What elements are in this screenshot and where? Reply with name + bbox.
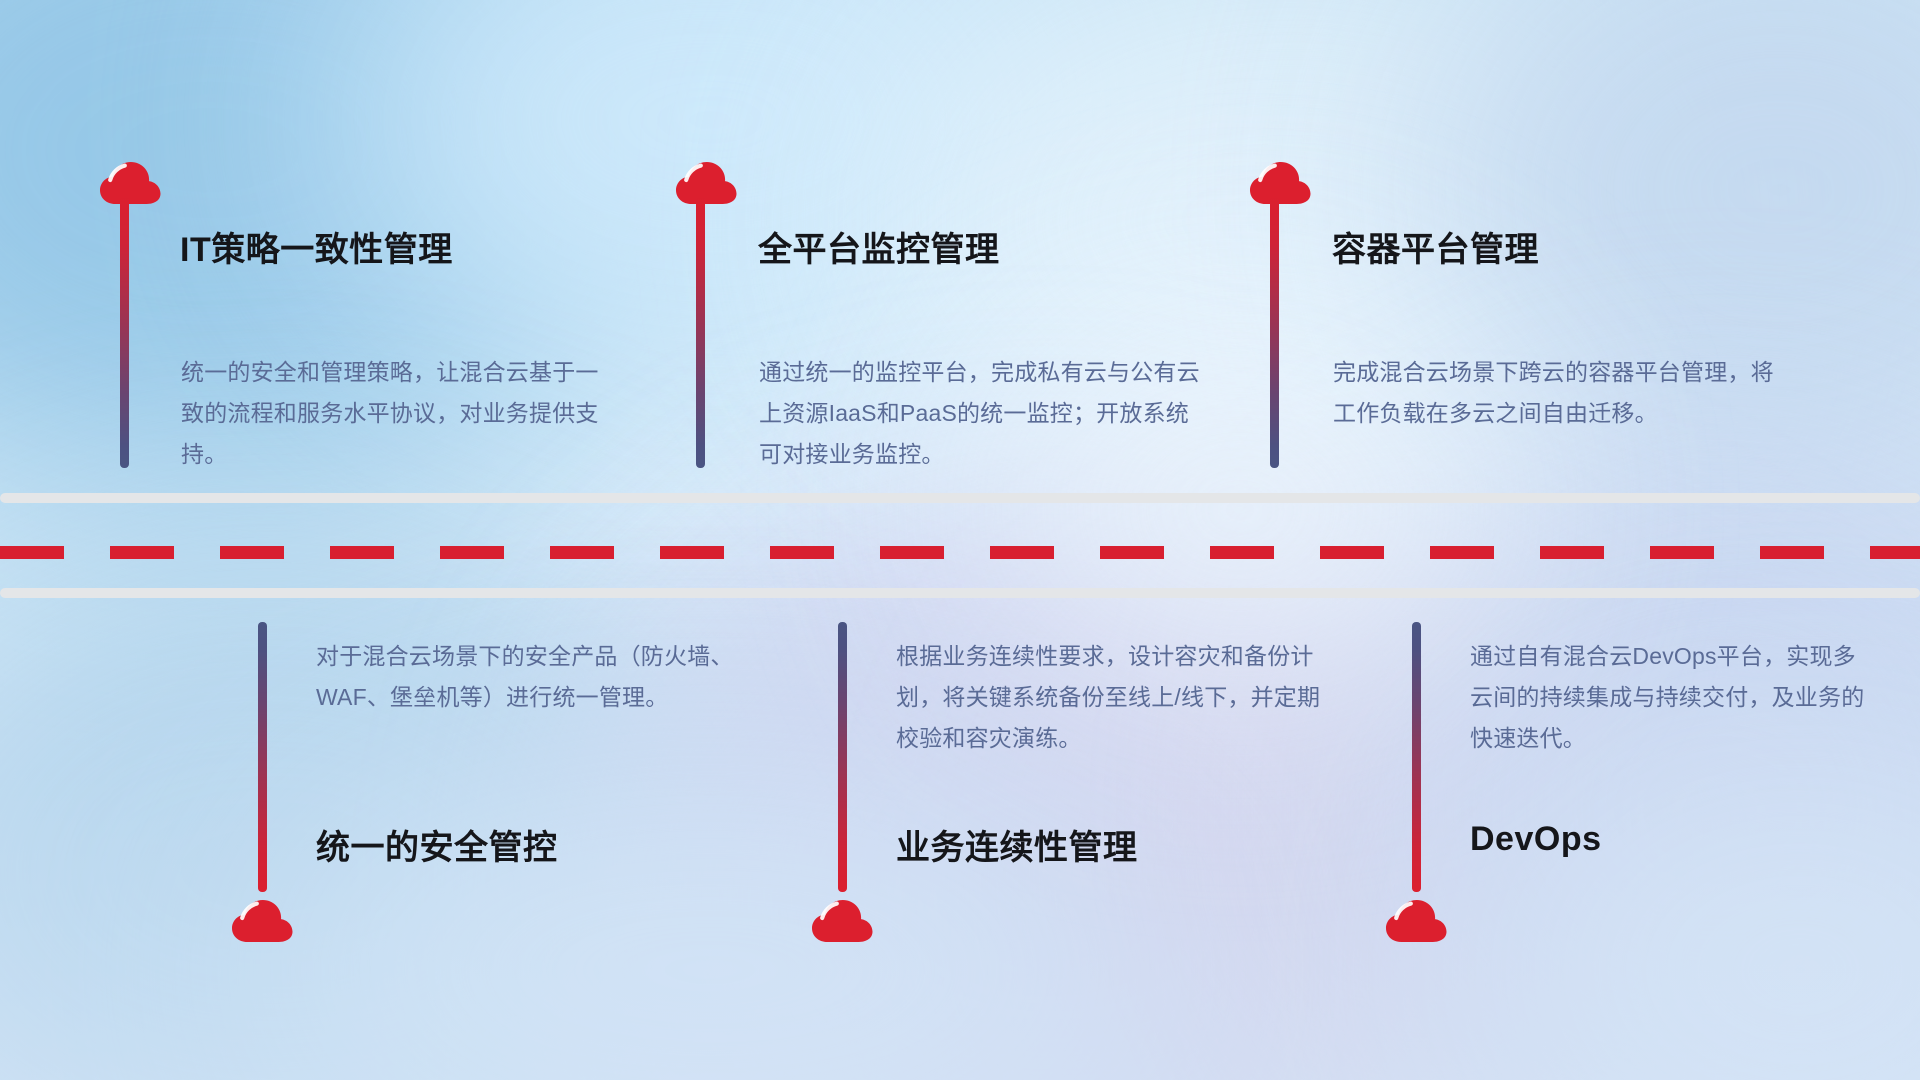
- card-title: DevOps: [1470, 820, 1602, 859]
- cloud-icon: [1384, 896, 1450, 944]
- stem-bar: [120, 196, 129, 468]
- card-body: 通过统一的监控平台，完成私有云与公有云上资源IaaS和PaaS的统一监控；开放系…: [759, 352, 1211, 475]
- card-body: 通过自有混合云DevOps平台，实现多云间的持续集成与持续交付，及业务的快速迭代…: [1470, 636, 1870, 759]
- stem-bar: [838, 622, 847, 892]
- stem-bar: [1412, 622, 1421, 892]
- stem-bar: [696, 196, 705, 468]
- cloud-icon: [674, 158, 740, 206]
- stem-bar: [258, 622, 267, 892]
- road-rail-bottom: [0, 588, 1920, 598]
- card-body: 统一的安全和管理策略，让混合云基于一致的流程和服务水平协议，对业务提供支持。: [181, 352, 613, 475]
- cloud-icon: [98, 158, 164, 206]
- road-dashed-center-line: [0, 546, 1920, 559]
- card-title: 全平台监控管理: [758, 222, 1000, 271]
- cloud-icon: [230, 896, 296, 944]
- card-title: 容器平台管理: [1332, 222, 1539, 271]
- cloud-icon: [810, 896, 876, 944]
- card-body: 对于混合云场景下的安全产品（防火墙、WAF、堡垒机等）进行统一管理。: [316, 636, 746, 718]
- card-title: 统一的安全管控: [316, 820, 558, 869]
- card-title: IT策略一致性管理: [180, 222, 453, 271]
- card-title: 业务连续性管理: [896, 820, 1138, 869]
- card-body: 完成混合云场景下跨云的容器平台管理，将工作负载在多云之间自由迁移。: [1333, 352, 1775, 434]
- stem-bar: [1270, 196, 1279, 468]
- road-rail-top: [0, 493, 1920, 503]
- cloud-icon: [1248, 158, 1314, 206]
- card-body: 根据业务连续性要求，设计容灾和备份计划，将关键系统备份至线上/线下，并定期校验和…: [896, 636, 1326, 759]
